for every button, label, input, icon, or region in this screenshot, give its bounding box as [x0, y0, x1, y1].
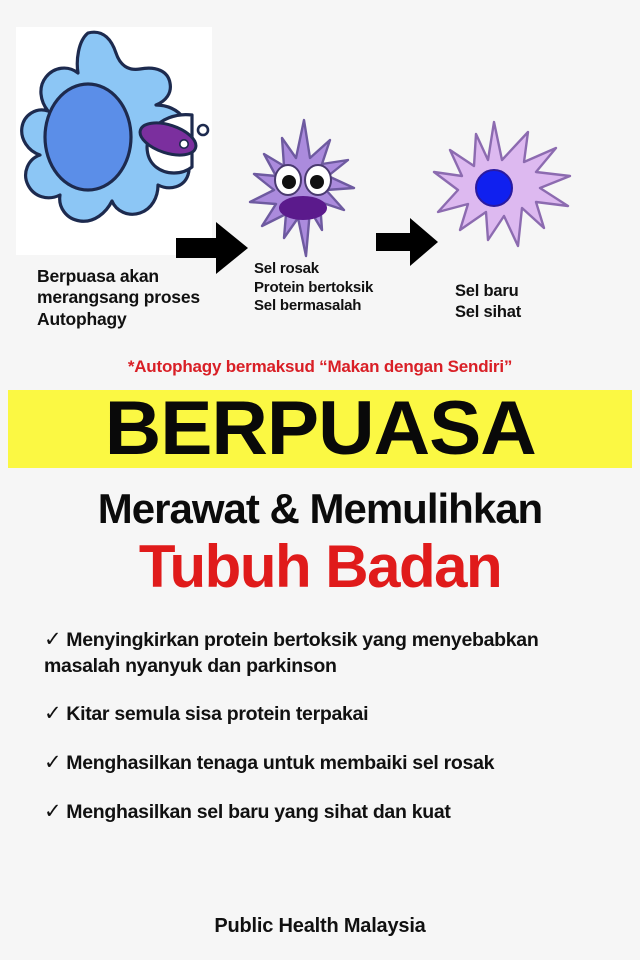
check-icon: ✓: [44, 701, 61, 728]
diagram-label-left-line-1: Berpuasa akan: [37, 266, 237, 287]
engulfing-cell-photo-box: [16, 27, 212, 255]
check-icon: ✓: [44, 627, 61, 654]
list-item: ✓Menghasilkan tenaga untuk membaiki sel …: [44, 750, 604, 777]
diagram-label-right-line-1: Sel baru: [455, 281, 605, 302]
list-item: ✓Menghasilkan sel baru yang sihat dan ku…: [44, 799, 604, 826]
diagram-label-left-line-2: merangsang proses: [37, 287, 237, 308]
diagram-label-middle-line-1: Sel rosak: [254, 260, 399, 279]
free-particle: [198, 125, 208, 135]
arrow-right-icon-2: [376, 218, 438, 266]
list-item: ✓Kitar semula sisa protein terpakai: [44, 701, 604, 728]
nucleus: [45, 84, 131, 190]
berpuasa-banner: BERPUASA: [8, 390, 632, 468]
diagram-label-left: Berpuasa akan merangsang proses Autophag…: [37, 266, 237, 330]
check-icon: ✓: [44, 750, 61, 777]
lavender-healthy-new-cell-icon: [432, 120, 572, 254]
benefit-text: Kitar semula sisa protein terpakai: [66, 703, 368, 725]
benefit-text: Menyingkirkan protein bertoksik yang men…: [44, 629, 538, 677]
autophagy-definition-note: *Autophagy bermaksud “Makan dengan Sendi…: [0, 357, 640, 377]
diagram-label-middle-line-3: Sel bermasalah: [254, 297, 399, 316]
mouth: [279, 196, 327, 220]
benefits-list: ✓Menyingkirkan protein bertoksik yang me…: [44, 627, 604, 847]
headline-line-2: Tubuh Badan: [0, 535, 640, 598]
banner-word: BERPUASA: [104, 391, 535, 467]
diagram-label-middle-line-2: Protein bertoksik: [254, 279, 399, 298]
diagram-label-right: Sel baru Sel sihat: [455, 281, 605, 323]
nucleus: [476, 170, 512, 206]
autophagy-diagram: Berpuasa akan merangsang proses Autophag…: [0, 0, 640, 345]
list-item: ✓Menyingkirkan protein bertoksik yang me…: [44, 627, 604, 679]
check-icon: ✓: [44, 799, 61, 826]
purple-damaged-cell-sad-face-icon: [248, 118, 356, 258]
diagram-label-right-line-2: Sel sihat: [455, 302, 605, 323]
blue-amoeba-cell-engulfing-bacterium-icon: [16, 27, 212, 255]
benefit-text: Menghasilkan sel baru yang sihat dan kua…: [66, 801, 450, 823]
diagram-label-left-line-3: Autophagy: [37, 309, 237, 330]
diagram-label-middle: Sel rosak Protein bertoksik Sel bermasal…: [254, 260, 399, 316]
benefit-text: Menghasilkan tenaga untuk membaiki sel r…: [66, 752, 494, 774]
infographic-poster: Berpuasa akan merangsang proses Autophag…: [0, 0, 640, 960]
source-attribution: Public Health Malaysia: [0, 915, 640, 938]
headline-line-1: Merawat & Memulihkan: [0, 487, 640, 531]
